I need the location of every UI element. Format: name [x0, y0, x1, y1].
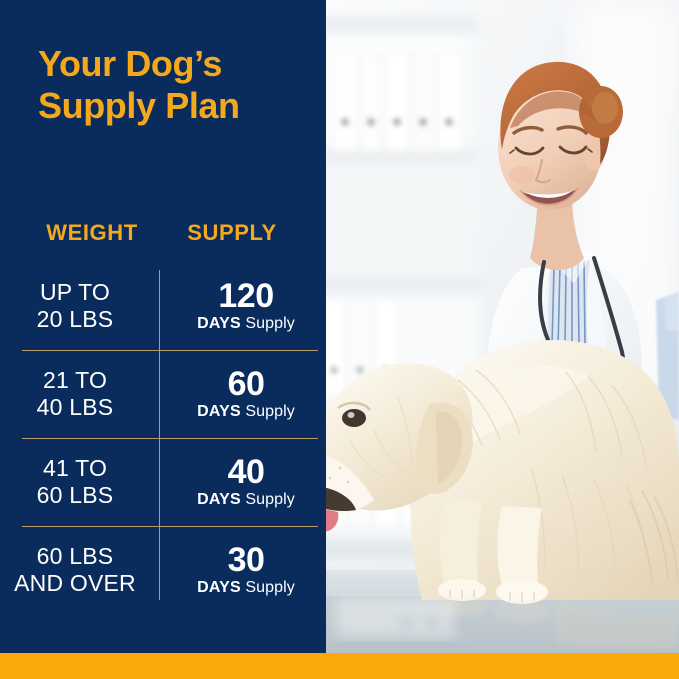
table-row: 21 TO 40 LBS 60 DAYS Supply	[0, 350, 326, 438]
days-supply-label: DAYS Supply	[197, 403, 295, 421]
page-title: Your Dog’s Supply Plan	[38, 43, 308, 127]
cell-supply: 120 DAYS Supply	[162, 262, 326, 350]
cell-weight: UP TO 20 LBS	[0, 262, 162, 350]
weight-line-1: 60 LBS	[14, 543, 136, 570]
page-title-line-1: Your Dog’s	[38, 43, 222, 84]
weight-line-2: 60 LBS	[37, 482, 114, 509]
supply-word: Supply	[245, 491, 295, 508]
page-title-line-2: Supply Plan	[38, 85, 308, 127]
weight-line-1: UP TO	[37, 279, 114, 306]
cell-weight: 21 TO 40 LBS	[0, 350, 162, 438]
days-supply-label: DAYS Supply	[197, 315, 295, 333]
column-header-supply: SUPPLY	[162, 220, 302, 246]
days-number: 60	[228, 367, 265, 401]
column-divider	[159, 270, 160, 600]
weight-line-2: 40 LBS	[37, 394, 114, 421]
weight-range: 60 LBS AND OVER	[14, 543, 136, 597]
weight-range: UP TO 20 LBS	[37, 279, 114, 333]
veterinarian-with-dog-photo	[326, 0, 679, 653]
supply-word: Supply	[245, 315, 295, 332]
cell-supply: 40 DAYS Supply	[162, 438, 326, 526]
column-header-weight: WEIGHT	[22, 220, 162, 246]
supply-table: WEIGHT SUPPLY UP TO 20 LBS 120 D	[0, 206, 326, 614]
days-number: 120	[218, 279, 273, 313]
table-header-row: WEIGHT SUPPLY	[0, 206, 326, 262]
weight-range: 41 TO 60 LBS	[37, 455, 114, 509]
days-supply-label: DAYS Supply	[197, 579, 295, 597]
bottom-accent-bar	[0, 653, 679, 679]
days-word: DAYS	[197, 579, 241, 596]
weight-range: 21 TO 40 LBS	[37, 367, 114, 421]
cell-weight: 60 LBS AND OVER	[0, 526, 162, 614]
table-row: 60 LBS AND OVER 30 DAYS Supply	[0, 526, 326, 614]
cell-supply: 30 DAYS Supply	[162, 526, 326, 614]
days-word: DAYS	[197, 403, 241, 420]
days-word: DAYS	[197, 315, 241, 332]
table-body: UP TO 20 LBS 120 DAYS Supply	[0, 262, 326, 614]
infographic-root: Your Dog’s Supply Plan WEIGHT SUPPLY UP …	[0, 0, 679, 679]
photo-illustration	[326, 0, 679, 653]
cell-weight: 41 TO 60 LBS	[0, 438, 162, 526]
weight-line-2: 20 LBS	[37, 306, 114, 333]
days-number: 40	[228, 455, 265, 489]
days-supply-label: DAYS Supply	[197, 491, 295, 509]
table-row: 41 TO 60 LBS 40 DAYS Supply	[0, 438, 326, 526]
weight-line-1: 41 TO	[37, 455, 114, 482]
days-number: 30	[228, 543, 265, 577]
supply-word: Supply	[245, 403, 295, 420]
weight-line-1: 21 TO	[37, 367, 114, 394]
weight-line-2: AND OVER	[14, 570, 136, 597]
days-word: DAYS	[197, 491, 241, 508]
supply-word: Supply	[245, 579, 295, 596]
table-row: UP TO 20 LBS 120 DAYS Supply	[0, 262, 326, 350]
supply-plan-panel: Your Dog’s Supply Plan WEIGHT SUPPLY UP …	[0, 0, 326, 653]
cell-supply: 60 DAYS Supply	[162, 350, 326, 438]
